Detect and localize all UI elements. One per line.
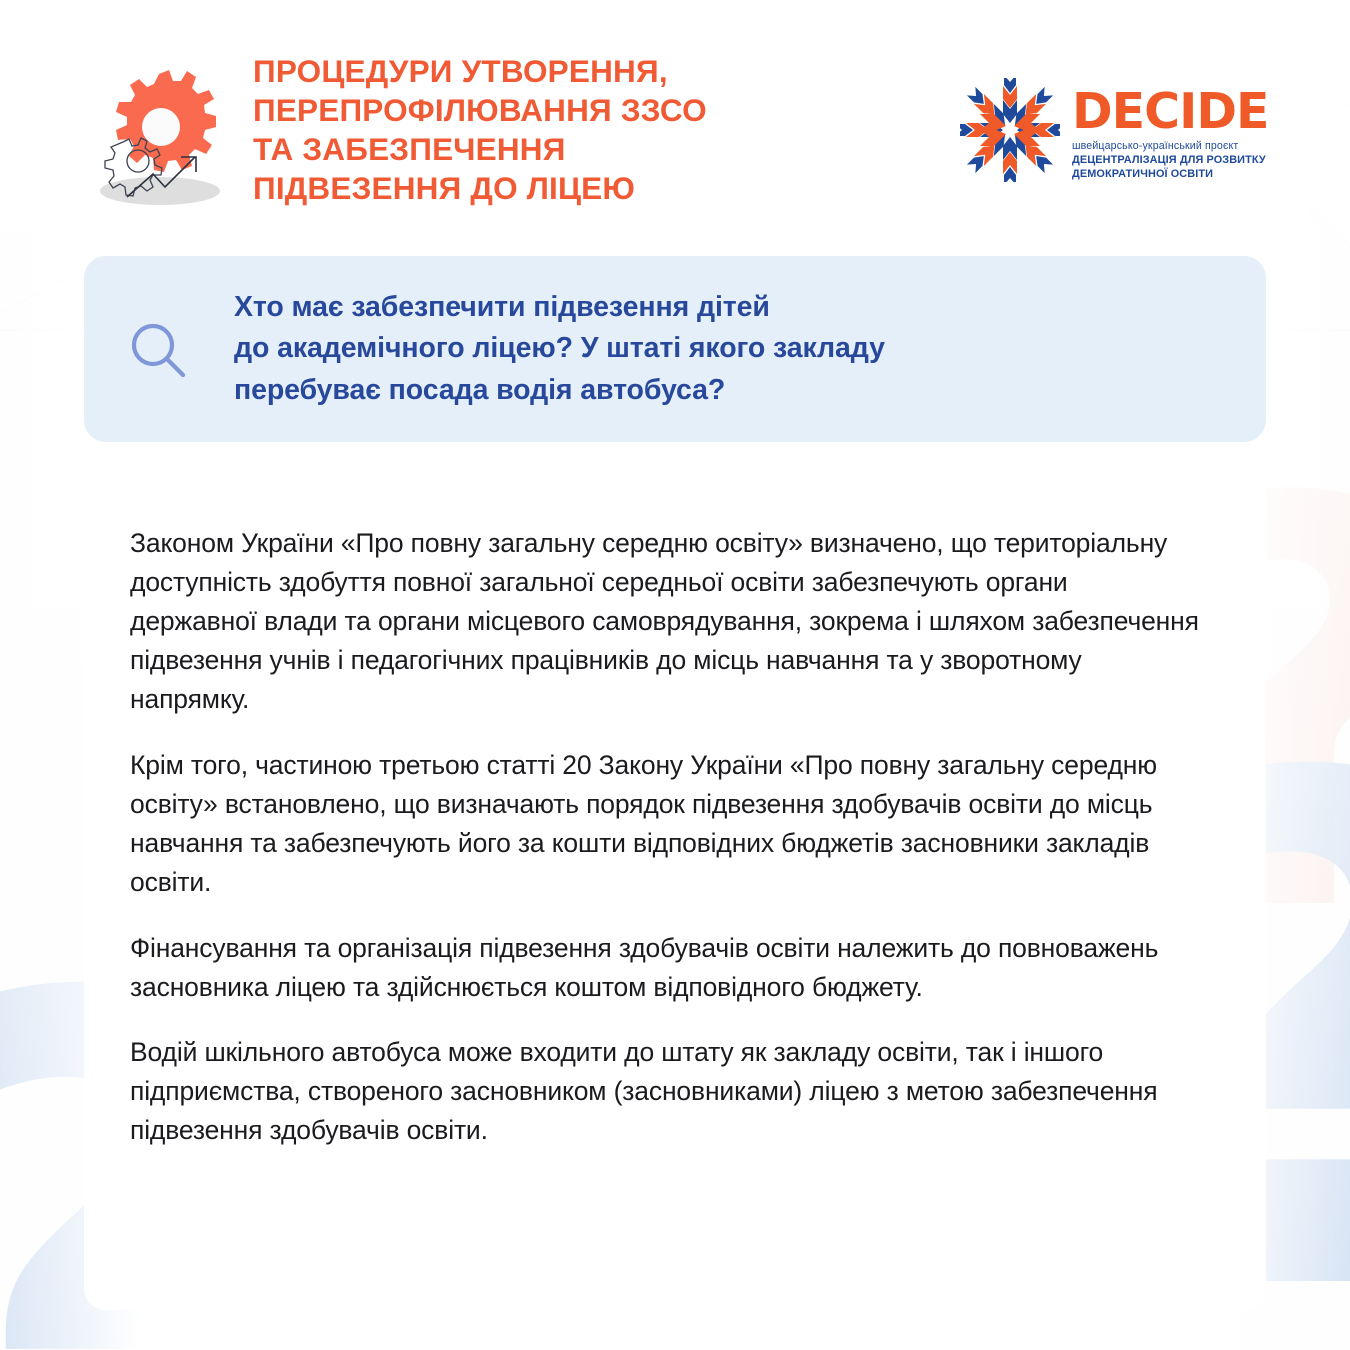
question-line-1: Хто має забезпечити підвезення дітей: [234, 287, 885, 328]
question-card: Хто має забезпечити підвезення дітей до …: [84, 256, 1266, 442]
decide-wordmark-block: DECIDE швейцарсько-український проєкт ДЕ…: [1072, 78, 1268, 182]
search-icon: [84, 316, 234, 382]
decide-tagline-1: швейцарсько-український проєкт: [1072, 140, 1268, 152]
title-line-2: ПЕРЕПРОФІЛЮВАННЯ ЗЗСО: [253, 91, 903, 130]
question-text: Хто має забезпечити підвезення дітей до …: [234, 287, 915, 410]
page-title: ПРОЦЕДУРИ УТВОРЕННЯ, ПЕРЕПРОФІЛЮВАННЯ ЗЗ…: [253, 52, 903, 208]
decide-tagline-2-line-1: ДЕЦЕНТРАЛІЗАЦІЯ ДЛЯ РОЗВИТКУ: [1072, 154, 1268, 168]
decide-tagline-2-line-2: ДЕМОКРАТИЧНОЇ ОСВІТИ: [1072, 168, 1268, 182]
infographic-page: ? ? ? ПРОЦЕДУРИ УТВОРЕННЯ, ПЕРЕПРОФІЛЮВ: [0, 0, 1350, 1350]
answer-card: Законом України «Про повну загальну сере…: [84, 472, 1266, 1310]
decide-snowflake-emblem: [960, 78, 1060, 182]
decide-tagline-2: ДЕЦЕНТРАЛІЗАЦІЯ ДЛЯ РОЗВИТКУ ДЕМОКРАТИЧН…: [1072, 154, 1268, 182]
title-line-1: ПРОЦЕДУРИ УТВОРЕННЯ,: [253, 52, 903, 91]
title-line-3: ТА ЗАБЕЗПЕЧЕННЯ: [253, 130, 903, 169]
question-line-2: до академічного ліцею? У штаті якого зак…: [234, 328, 885, 369]
answer-paragraph-3: Фінансування та організація підвезення з…: [130, 929, 1200, 1007]
answer-paragraph-1: Законом України «Про повну загальну сере…: [130, 524, 1200, 719]
decide-logo: DECIDE швейцарсько-український проєкт ДЕ…: [960, 78, 1268, 182]
question-line-3: перебуває посада водія автобуса?: [234, 370, 885, 411]
decide-wordmark: DECIDE: [1072, 88, 1268, 136]
gears-growth-arrow-icon: [85, 48, 255, 213]
answer-paragraph-4: Водій шкільного автобуса може входити до…: [130, 1033, 1200, 1150]
answer-paragraph-2: Крім того, частиною третьою статті 20 За…: [130, 746, 1200, 902]
page-header: ПРОЦЕДУРИ УТВОРЕННЯ, ПЕРЕПРОФІЛЮВАННЯ ЗЗ…: [0, 0, 1350, 245]
title-line-4: ПІДВЕЗЕННЯ ДО ЛІЦЕЮ: [253, 169, 903, 208]
